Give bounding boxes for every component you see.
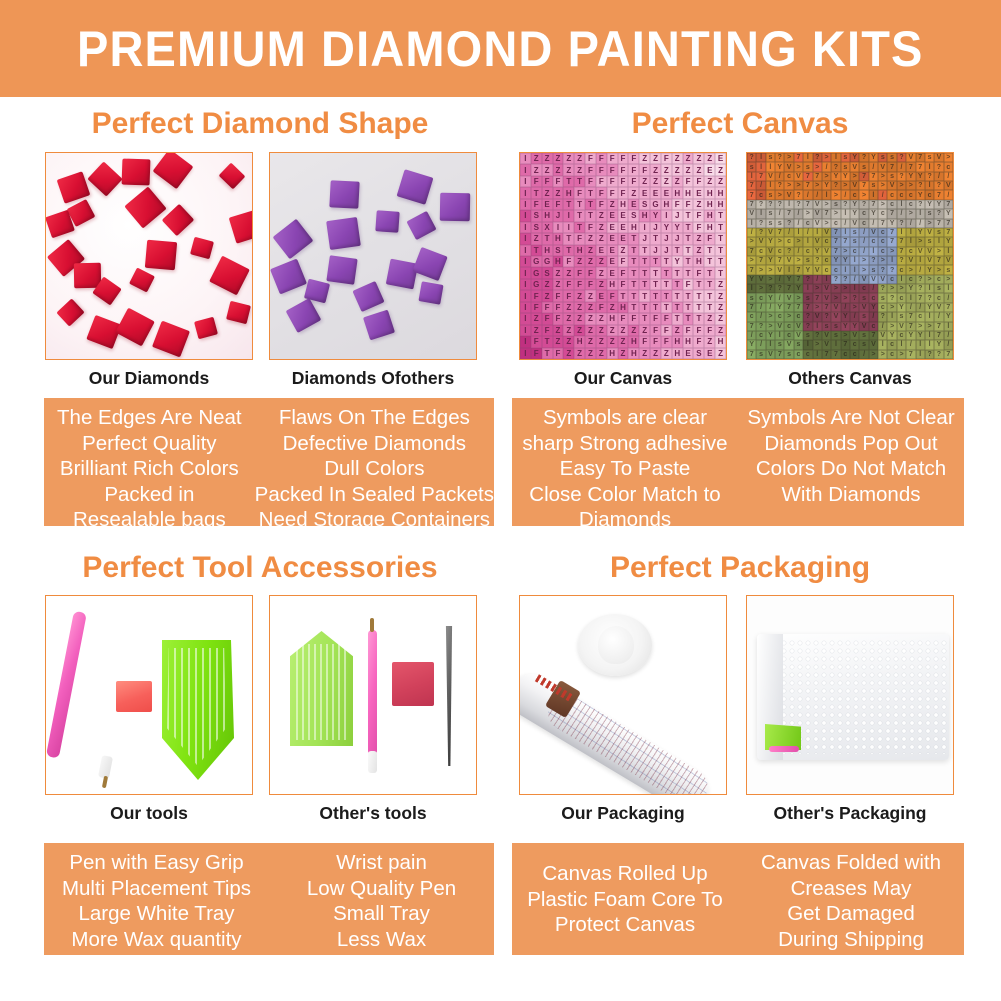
canvas-symbol-cell: I: [520, 256, 531, 267]
canvas-symbol-cell: Z: [683, 153, 694, 164]
canvas-symbol-cell: F: [607, 164, 618, 175]
small-tray-grooves-icon: [296, 644, 347, 740]
canvas-pixel-cell: l: [813, 350, 822, 359]
purple-diamond-bead: [363, 310, 395, 341]
canvas-symbol-cell: Z: [715, 348, 726, 359]
canvas-pixel-cell: >: [841, 181, 850, 190]
canvas-pixel-cell: s: [756, 350, 765, 359]
canvas-symbol-cell: Z: [672, 176, 683, 187]
canvas-pixel-cell: l: [794, 228, 803, 237]
our-tools-image: [46, 596, 252, 794]
canvas-symbol-cell: T: [531, 245, 542, 256]
canvas-pixel-cell: >: [887, 284, 896, 293]
canvas-pixel-cell: c: [897, 293, 906, 302]
canvas-pixel-cell: ?: [887, 293, 896, 302]
canvas-pixel-cell: Y: [841, 172, 850, 181]
canvas-pixel-cell: l: [850, 256, 859, 265]
canvas-pixel-cell: >: [831, 209, 840, 218]
canvas-pixel-cell: V: [822, 284, 831, 293]
canvas-symbol-cell: T: [704, 256, 715, 267]
canvas-pixel-cell: 7: [887, 162, 896, 171]
canvas-pixel-cell: l: [803, 284, 812, 293]
canvas-pixel-cell: ?: [897, 153, 906, 162]
canvas-pixel-cell: s: [766, 153, 775, 162]
canvas-pixel-cell: s: [784, 350, 793, 359]
canvas-symbol-cell: T: [661, 267, 672, 278]
canvas-pixel-cell: 7: [775, 228, 784, 237]
bullet-line: sharp Strong adhesive: [522, 431, 727, 457]
canvas-pixel-cell: /: [869, 284, 878, 293]
canvas-symbol-cell: Z: [618, 245, 629, 256]
canvas-pixel-cell: ?: [887, 265, 896, 274]
canvas-symbol-cell: T: [693, 279, 704, 290]
canvas-symbol-cell: Z: [574, 290, 585, 301]
canvas-pixel-cell: /: [944, 172, 953, 181]
canvas-pixel-cell: ?: [775, 153, 784, 162]
canvas-symbol-cell: F: [553, 348, 564, 359]
canvas-pixel-cell: 7: [784, 284, 793, 293]
canvas-symbol-cell: T: [715, 267, 726, 278]
red-diamond-bead: [56, 298, 84, 326]
canvas-pixel-cell: ?: [925, 172, 934, 181]
bullet-line: Defective Diamonds: [283, 431, 466, 457]
canvas-symbol-cell: T: [683, 302, 694, 313]
canvas-pixel-cell: >: [906, 209, 915, 218]
canvas-pixel-cell: V: [775, 265, 784, 274]
bullet-line: Wrist pain: [336, 850, 427, 876]
canvas-symbol-cell: F: [596, 164, 607, 175]
canvas-pixel-cell: V: [906, 153, 915, 162]
canvas-pixel-cell: V: [925, 247, 934, 256]
canvas-pixel-cell: /: [747, 228, 756, 237]
canvas-symbol-cell: F: [618, 267, 629, 278]
canvas-pixel-cell: V: [869, 228, 878, 237]
canvas-symbol-cell: H: [553, 256, 564, 267]
canvas-symbol-cell: Z: [618, 348, 629, 359]
canvas-pixel-cell: Y: [841, 312, 850, 321]
canvas-symbol-cell: Z: [531, 153, 542, 164]
canvas-symbol-cell: G: [531, 279, 542, 290]
canvas-pixel-cell: Y: [887, 331, 896, 340]
canvas-pixel-cell: >: [822, 219, 831, 228]
canvas-pixel-cell: /: [775, 172, 784, 181]
canvas-pixel-cell: Y: [803, 265, 812, 274]
canvas-pixel-cell: ?: [869, 256, 878, 265]
canvas-pixel-cell: 7: [944, 350, 953, 359]
canvas-pixel-cell: >: [878, 350, 887, 359]
canvas-pixel-cell: l: [822, 190, 831, 199]
canvas-symbol-cell: I: [520, 233, 531, 244]
canvas-pixel-cell: s: [831, 200, 840, 209]
canvas-symbol-cell: Z: [596, 325, 607, 336]
canvas-pixel-cell: V: [859, 275, 868, 284]
canvas-symbol-cell: Z: [585, 325, 596, 336]
canvas-symbol-cell: F: [693, 325, 704, 336]
canvas-symbol-cell: F: [672, 199, 683, 210]
photo-other-tools: [269, 595, 477, 795]
canvas-pixel-cell: l: [831, 340, 840, 349]
canvas-pixel-cell: 7: [803, 200, 812, 209]
canvas-pixel-cell: Y: [747, 275, 756, 284]
foam-core-inner-icon: [598, 626, 634, 664]
canvas-pixel-cell: Y: [794, 284, 803, 293]
canvas-symbol-cell: I: [520, 313, 531, 324]
canvas-pixel-cell: l: [747, 172, 756, 181]
canvas-pixel-cell: Y: [813, 247, 822, 256]
canvas-pixel-cell: l: [747, 284, 756, 293]
canvas-pixel-cell: /: [944, 331, 953, 340]
canvas-pixel-cell: V: [878, 275, 887, 284]
canvas-symbol-cell: F: [574, 267, 585, 278]
canvas-pixel-cell: >: [794, 256, 803, 265]
bullet-line: Low Quality Pen: [307, 876, 456, 902]
canvas-pixel-cell: c: [859, 284, 868, 293]
section-title-tools: Perfect Tool Accessories: [30, 551, 490, 585]
canvas-pixel-cell: ?: [916, 284, 925, 293]
canvas-pixel-cell: /: [803, 228, 812, 237]
canvas-pixel-cell: V: [813, 209, 822, 218]
canvas-pixel-cell: V: [822, 331, 831, 340]
canvas-pixel-cell: s: [850, 237, 859, 246]
canvas-symbol-cell: T: [574, 210, 585, 221]
canvas-pixel-cell: V: [756, 275, 765, 284]
canvas-pixel-cell: V: [850, 181, 859, 190]
caption-our-tools: Our tools: [45, 803, 253, 824]
canvas-pixel-cell: >: [747, 237, 756, 246]
purple-diamond-bead: [412, 247, 447, 281]
canvas-pixel-cell: c: [850, 247, 859, 256]
canvas-pixel-cell: Y: [934, 340, 943, 349]
photo-other-packaging: [746, 595, 954, 795]
canvas-pixel-cell: >: [784, 312, 793, 321]
canvas-symbol-cell: Z: [585, 245, 596, 256]
canvas-pixel-cell: V: [813, 312, 822, 321]
canvas-symbol-cell: I: [520, 290, 531, 301]
purple-diamond-bead: [352, 281, 384, 312]
canvas-pixel-cell: Y: [841, 322, 850, 331]
canvas-pixel-cell: /: [756, 340, 765, 349]
canvas-symbol-cell: H: [542, 245, 553, 256]
canvas-symbol-cell: I: [520, 199, 531, 210]
canvas-pixel-cell: l: [925, 340, 934, 349]
canvas-pixel-cell: ?: [831, 162, 840, 171]
canvas-symbol-cell: T: [628, 267, 639, 278]
canvas-pixel-cell: s: [859, 312, 868, 321]
canvas-pixel-cell: V: [756, 237, 765, 246]
canvas-symbol-cell: Z: [563, 153, 574, 164]
canvas-pixel-cell: /: [906, 303, 915, 312]
canvas-symbol-cell: H: [704, 187, 715, 198]
canvas-symbol-cell: F: [531, 302, 542, 313]
canvas-pixel-cell: s: [775, 219, 784, 228]
canvas-symbol-cell: E: [618, 233, 629, 244]
canvas-pixel-cell: /: [794, 219, 803, 228]
canvas-symbol-cell: Z: [585, 233, 596, 244]
canvas-symbol-cell: T: [704, 267, 715, 278]
canvas-symbol-cell: E: [607, 245, 618, 256]
canvas-symbol-cell: Z: [639, 176, 650, 187]
canvas-pixel-cell: 7: [841, 237, 850, 246]
canvas-symbol-cell: Z: [628, 187, 639, 198]
canvas-symbol-cell: Z: [661, 164, 672, 175]
canvas-pixel-cell: c: [906, 200, 915, 209]
canvas-symbol-cell: H: [704, 199, 715, 210]
photo-our-canvas: IZZZZZFFFFFZZFZZZZEIZZZZZFFFFFFZZZZZEZIF…: [519, 152, 727, 360]
canvas-symbol-cell: Z: [574, 153, 585, 164]
canvas-symbol-cell: Z: [596, 233, 607, 244]
canvas-pixel-cell: c: [887, 190, 896, 199]
canvas-symbol-cell: I: [639, 222, 650, 233]
canvas-symbol-cell: S: [553, 245, 564, 256]
canvas-pixel-cell: 7: [869, 331, 878, 340]
canvas-pixel-cell: l: [822, 275, 831, 284]
canvas-symbol-cell: G: [650, 199, 661, 210]
bullet-line: Diamonds: [579, 507, 671, 533]
canvas-pixel-cell: >: [878, 256, 887, 265]
canvas-pixel-cell: s: [869, 181, 878, 190]
canvas-pixel-cell: c: [906, 247, 915, 256]
canvas-pixel-cell: >: [841, 284, 850, 293]
canvas-symbol-cell: Z: [553, 153, 564, 164]
canvas-pixel-cell: V: [869, 340, 878, 349]
canvas-pixel-cell: V: [766, 172, 775, 181]
canvas-pixel-cell: s: [803, 256, 812, 265]
canvas-symbol-cell: Z: [553, 164, 564, 175]
tweezers-icon: [442, 626, 456, 766]
canvas-symbol-cell: F: [618, 164, 629, 175]
canvas-pixel-cell: /: [869, 219, 878, 228]
page-title: PREMIUM DIAMOND PAINTING KITS: [77, 20, 923, 78]
canvas-pixel-cell: Y: [747, 340, 756, 349]
caption-others-canvas: Others Canvas: [746, 368, 954, 389]
canvas-pixel-cell: Y: [916, 190, 925, 199]
canvas-symbol-cell: Z: [542, 164, 553, 175]
canvas-pixel-cell: >: [925, 219, 934, 228]
canvas-pixel-cell: 7: [869, 200, 878, 209]
canvas-symbol-cell: T: [661, 256, 672, 267]
canvas-symbol-cell: Z: [531, 164, 542, 175]
canvas-pixel-cell: c: [869, 293, 878, 302]
canvas-symbol-cell: Z: [650, 176, 661, 187]
canvas-symbol-cell: H: [618, 199, 629, 210]
canvas-pixel-cell: l: [803, 237, 812, 246]
red-diamond-bead: [219, 163, 246, 190]
canvas-pixel-cell: ?: [803, 312, 812, 321]
canvas-symbol-cell: H: [672, 348, 683, 359]
canvas-pixel-cell: /: [775, 275, 784, 284]
bullet-line: Plastic Foam Core To: [527, 887, 723, 913]
canvas-pixel-cell: >: [925, 322, 934, 331]
canvas-pixel-cell: /: [850, 312, 859, 321]
canvas-symbol-cell: Z: [618, 325, 629, 336]
canvas-symbol-cell: Y: [650, 210, 661, 221]
canvas-symbol-cell: E: [607, 222, 618, 233]
bullet-line: Close Color Match to: [529, 482, 720, 508]
canvas-pixel-cell: >: [766, 275, 775, 284]
bullet-line: Less Wax: [337, 927, 426, 953]
canvas-symbol-cell: Z: [715, 290, 726, 301]
red-diamond-bead: [190, 237, 214, 260]
canvas-pixel-cell: l: [869, 247, 878, 256]
canvas-pixel-cell: /: [916, 303, 925, 312]
canvas-pixel-cell: l: [916, 350, 925, 359]
canvas-symbol-cell: Z: [715, 176, 726, 187]
canvas-pixel-cell: 7: [747, 265, 756, 274]
canvas-pixel-cell: V: [822, 247, 831, 256]
canvas-pixel-cell: c: [822, 237, 831, 246]
canvas-symbol-cell: F: [607, 187, 618, 198]
bullet-line: Packed In Sealed Packets: [255, 482, 494, 508]
canvas-pixel-cell: 7: [775, 350, 784, 359]
canvas-pixel-cell: c: [803, 350, 812, 359]
canvas-symbol-cell: F: [607, 153, 618, 164]
canvas-pixel-cell: 7: [934, 256, 943, 265]
our-canvas-symbol-grid: IZZZZZFFFFFZZFZZZZEIZZZZZFFFFFFZZZZZEZIF…: [520, 153, 726, 359]
canvas-pixel-cell: >: [794, 181, 803, 190]
canvas-pixel-cell: l: [756, 153, 765, 162]
canvas-symbol-cell: T: [683, 256, 694, 267]
canvas-pixel-cell: V: [766, 247, 775, 256]
canvas-symbol-cell: H: [715, 187, 726, 198]
canvas-symbol-cell: T: [704, 302, 715, 313]
canvas-pixel-cell: 7: [747, 350, 756, 359]
canvas-symbol-cell: F: [531, 199, 542, 210]
canvas-pixel-cell: >: [831, 284, 840, 293]
canvas-pixel-cell: 7: [803, 303, 812, 312]
canvas-pixel-cell: l: [944, 247, 953, 256]
canvas-pixel-cell: 7: [803, 172, 812, 181]
canvas-pixel-cell: 7: [897, 237, 906, 246]
canvas-symbol-cell: E: [618, 222, 629, 233]
canvas-pixel-cell: l: [841, 265, 850, 274]
canvas-pixel-cell: l: [906, 293, 915, 302]
canvas-pixel-cell: 7: [906, 322, 915, 331]
canvas-pixel-cell: >: [756, 284, 765, 293]
canvas-pixel-cell: >: [794, 293, 803, 302]
canvas-symbol-cell: Z: [563, 267, 574, 278]
canvas-pixel-cell: 7: [906, 162, 915, 171]
canvas-pixel-cell: l: [916, 256, 925, 265]
canvas-symbol-cell: H: [661, 199, 672, 210]
canvas-pixel-cell: 7: [934, 190, 943, 199]
text-col-our-tools: Pen with Easy Grip Multi Placement Tips …: [44, 843, 269, 955]
canvas-pixel-cell: >: [934, 265, 943, 274]
canvas-symbol-cell: Z: [639, 348, 650, 359]
canvas-pixel-cell: 7: [747, 200, 756, 209]
canvas-symbol-cell: Z: [607, 325, 618, 336]
canvas-pixel-cell: V: [784, 256, 793, 265]
canvas-pixel-cell: c: [906, 275, 915, 284]
canvas-pixel-cell: 7: [784, 303, 793, 312]
canvas-pixel-cell: c: [784, 237, 793, 246]
canvas-pixel-cell: s: [794, 340, 803, 349]
canvas-pixel-cell: >: [925, 275, 934, 284]
canvas-pixel-cell: Y: [906, 331, 915, 340]
canvas-pixel-cell: l: [869, 190, 878, 199]
canvas-pixel-cell: ?: [803, 322, 812, 331]
canvas-symbol-cell: F: [563, 290, 574, 301]
canvas-symbol-cell: E: [628, 199, 639, 210]
canvas-pixel-cell: >: [813, 162, 822, 171]
canvas-pixel-cell: c: [794, 312, 803, 321]
canvas-pixel-cell: 7: [747, 181, 756, 190]
canvas-pixel-cell: c: [756, 331, 765, 340]
canvas-pixel-cell: l: [925, 181, 934, 190]
canvas-symbol-cell: T: [672, 279, 683, 290]
canvas-symbol-cell: T: [618, 290, 629, 301]
canvas-symbol-cell: F: [563, 279, 574, 290]
canvas-symbol-cell: Z: [574, 302, 585, 313]
canvas-pixel-cell: l: [756, 162, 765, 171]
canvas-pixel-cell: /: [859, 247, 868, 256]
canvas-pixel-cell: ?: [878, 312, 887, 321]
canvas-symbol-cell: H: [639, 210, 650, 221]
canvas-pixel-cell: c: [784, 322, 793, 331]
canvas-symbol-cell: F: [639, 164, 650, 175]
red-diamonds-image: [46, 153, 252, 359]
canvas-symbol-cell: T: [672, 302, 683, 313]
purple-diamond-bead: [375, 210, 399, 233]
canvas-pixel-cell: c: [869, 322, 878, 331]
section-title-canvas: Perfect Canvas: [510, 107, 970, 141]
canvas-pixel-cell: V: [822, 340, 831, 349]
bullet-line: Pen with Easy Grip: [69, 850, 243, 876]
canvas-pixel-cell: c: [756, 247, 765, 256]
canvas-symbol-cell: Z: [704, 336, 715, 347]
canvas-symbol-cell: Z: [693, 153, 704, 164]
canvas-pixel-cell: >: [897, 181, 906, 190]
canvas-pixel-cell: 7: [934, 219, 943, 228]
canvas-symbol-cell: T: [683, 267, 694, 278]
canvas-symbol-cell: T: [628, 290, 639, 301]
canvas-pixel-cell: ?: [878, 284, 887, 293]
canvas-symbol-cell: Z: [639, 153, 650, 164]
canvas-pixel-cell: >: [766, 265, 775, 274]
canvas-pixel-cell: 7: [944, 303, 953, 312]
canvas-pixel-cell: 7: [822, 303, 831, 312]
canvas-pixel-cell: s: [934, 228, 943, 237]
canvas-pixel-cell: ?: [934, 209, 943, 218]
canvas-pixel-cell: ?: [934, 181, 943, 190]
canvas-symbol-cell: Z: [596, 256, 607, 267]
caption-other-packaging: Other's Packaging: [746, 803, 954, 824]
canvas-pixel-cell: l: [803, 340, 812, 349]
purple-diamond-bead: [326, 255, 357, 285]
canvas-pixel-cell: l: [841, 209, 850, 218]
canvas-pixel-cell: >: [813, 181, 822, 190]
canvas-symbol-cell: Z: [715, 325, 726, 336]
canvas-symbol-cell: F: [553, 176, 564, 187]
canvas-symbol-cell: F: [639, 336, 650, 347]
canvas-symbol-cell: T: [683, 210, 694, 221]
canvas-pixel-cell: >: [887, 247, 896, 256]
canvas-pixel-cell: 7: [944, 219, 953, 228]
canvas-pixel-cell: l: [766, 340, 775, 349]
canvas-symbol-cell: J: [650, 245, 661, 256]
canvas-symbol-cell: Z: [661, 348, 672, 359]
canvas-pixel-cell: s: [747, 293, 756, 302]
caption-our-diamonds: Our Diamonds: [45, 368, 253, 389]
canvas-pixel-cell: s: [869, 265, 878, 274]
photo-others-canvas: ?ls?>7l?>lsY?Yss?V7sV>sllYV>s>/?sVs/V7/7…: [746, 152, 954, 360]
red-diamond-bead: [194, 317, 218, 340]
canvas-pixel-cell: c: [859, 219, 868, 228]
canvas-symbol-cell: S: [542, 267, 553, 278]
canvas-pixel-cell: 7: [803, 181, 812, 190]
canvas-symbol-cell: F: [563, 256, 574, 267]
caption-other-diamonds: Diamonds Ofothers: [269, 368, 477, 389]
canvas-pixel-cell: Y: [925, 200, 934, 209]
